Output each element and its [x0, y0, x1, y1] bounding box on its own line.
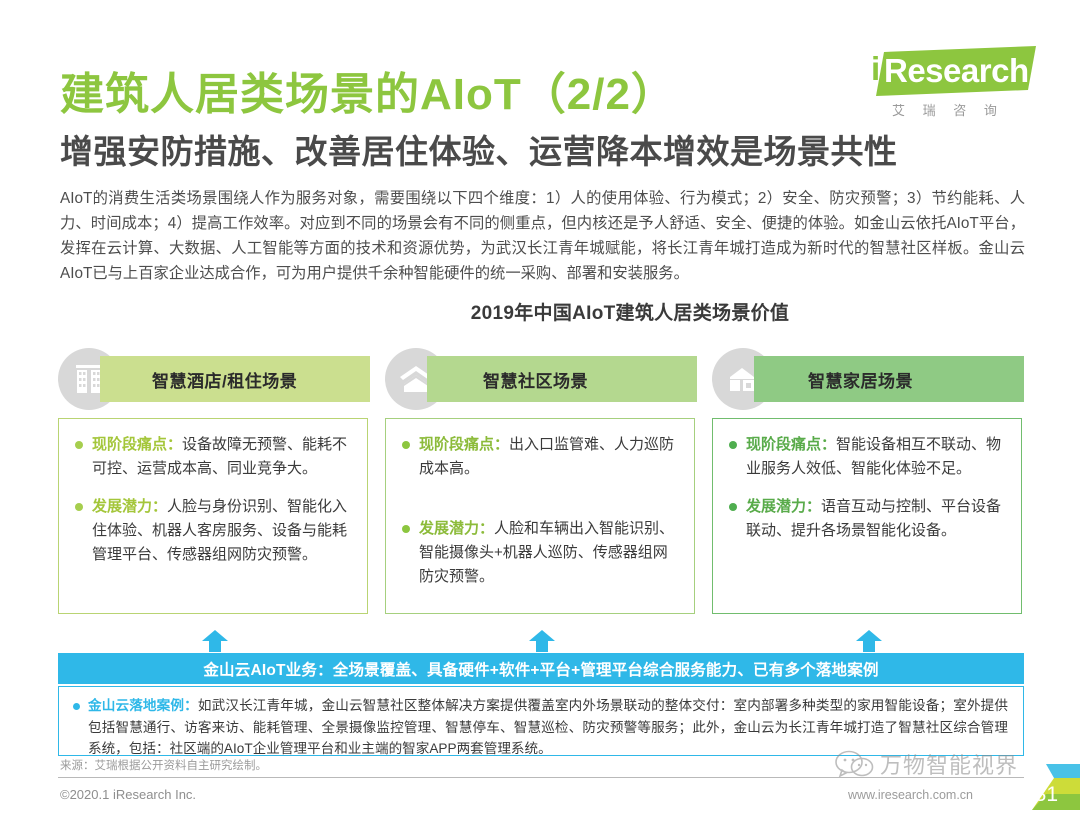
iresearch-logo: i Research 艾 瑞 咨 询	[868, 46, 1038, 122]
copyright-text: ©2020.1 iResearch Inc.	[60, 787, 196, 802]
bullet-text: 发展潜力：人脸和车辆出入智能识别、智能摄像头+机器人巡防、传感器组网防灾预警。	[419, 517, 681, 589]
page-title: 建筑人居类场景的AIoT（2/2）	[60, 58, 676, 122]
bullet-dot-icon	[729, 441, 737, 449]
wechat-watermark: 万物智能视界	[834, 748, 1018, 780]
column-header-band: 智慧家居场景	[754, 356, 1024, 402]
column-header-community: 智慧社区场景	[385, 348, 697, 410]
bullet-text: 现阶段痛点：设备故障无预警、能耗不可控、运营成本高、同业竞争大。	[92, 433, 354, 481]
bullet-text: 发展潜力：人脸与身份识别、智能化入住体验、机器人客房服务、设备与能耗管理平台、传…	[92, 495, 354, 567]
case-study-key: 金山云落地案例：	[88, 698, 198, 713]
bullet-key: 现阶段痛点：	[92, 436, 182, 453]
list-item: 发展潜力：人脸与身份识别、智能化入住体验、机器人客房服务、设备与能耗管理平台、传…	[67, 495, 357, 567]
footer-divider	[58, 777, 1024, 778]
summary-banner: 金山云AIoT业务：全场景覆盖、具备硬件+软件+平台+管理平台综合服务能力、已有…	[58, 653, 1024, 684]
list-item: 发展潜力：语音互动与控制、平台设备联动、提升各场景智能化设备。	[721, 495, 1011, 543]
column-header-label: 智慧酒店/租住场景	[100, 367, 297, 392]
bullet-key: 发展潜力：	[746, 498, 821, 515]
bullet-text: 现阶段痛点：出入口监管难、人力巡防成本高。	[419, 433, 681, 481]
case-study-box: 金山云落地案例：如武汉长江青年城，金山云智慧社区整体解决方案提供覆盖室内外场景联…	[58, 686, 1024, 756]
arrow-up-icon	[202, 630, 228, 652]
logo-mark: i Research	[868, 46, 1038, 98]
summary-banner-text: 金山云AIoT业务：全场景覆盖、具备硬件+软件+平台+管理平台综合服务能力、已有…	[203, 658, 878, 680]
column-header-label: 智慧社区场景	[427, 367, 588, 392]
logo-subtitle: 艾 瑞 咨 询	[892, 100, 1004, 119]
list-item: 现阶段痛点：设备故障无预警、能耗不可控、运营成本高、同业竞争大。	[67, 433, 357, 481]
bullet-key: 发展潜力：	[92, 498, 167, 515]
column-content-box: 现阶段痛点：出入口监管难、人力巡防成本高。 发展潜力：人脸和车辆出入智能识别、智…	[385, 418, 695, 614]
bullet-dot-icon	[402, 525, 410, 533]
scenario-columns: 智慧酒店/租住场景 现阶段痛点：设备故障无预警、能耗不可控、运营成本高、同业竞争…	[58, 348, 1024, 633]
chart-title-text: 2019年中国AIoT建筑人居类场景价值	[471, 303, 789, 324]
list-item: 发展潜力：人脸和车辆出入智能识别、智能摄像头+机器人巡防、传感器组网防灾预警。	[394, 517, 684, 589]
page-number: 31	[1035, 783, 1058, 807]
list-item: 现阶段痛点：出入口监管难、人力巡防成本高。	[394, 433, 684, 481]
bullet-dot-icon	[75, 441, 83, 449]
arrow-up-icon	[856, 630, 882, 652]
bullet-key: 现阶段痛点：	[746, 436, 836, 453]
chart-title: 2019年中国AIoT建筑人居类场景价值	[0, 298, 1080, 325]
bullet-text: 现阶段痛点：智能设备相互不联动、物业服务人效低、智能化体验不足。	[746, 433, 1008, 481]
column-header-smarthome: 智慧家居场景	[712, 348, 1024, 410]
bullet-dot-icon	[402, 441, 410, 449]
scenario-column-smarthome: 智慧家居场景 现阶段痛点：智能设备相互不联动、物业服务人效低、智能化体验不足。 …	[712, 348, 1024, 410]
bullet-key: 发展潜力：	[419, 520, 494, 537]
page-subtitle: 增强安防措施、改善居住体验、运营降本增效是场景共性	[60, 125, 898, 173]
scenario-column-hotel: 智慧酒店/租住场景 现阶段痛点：设备故障无预警、能耗不可控、运营成本高、同业竞争…	[58, 348, 370, 410]
logo-i-letter: i	[871, 50, 880, 88]
column-header-band: 智慧酒店/租住场景	[100, 356, 370, 402]
logo-wordmark: Research	[884, 52, 1029, 90]
column-content-box: 现阶段痛点：设备故障无预警、能耗不可控、运营成本高、同业竞争大。 发展潜力：人脸…	[58, 418, 368, 614]
bullet-text: 发展潜力：语音互动与控制、平台设备联动、提升各场景智能化设备。	[746, 495, 1008, 543]
wechat-icon	[834, 749, 874, 779]
column-header-band: 智慧社区场景	[427, 356, 697, 402]
column-header-hotel: 智慧酒店/租住场景	[58, 348, 370, 410]
bullet-dot-icon	[75, 503, 83, 511]
column-header-label: 智慧家居场景	[754, 367, 913, 392]
list-item: 现阶段痛点：智能设备相互不联动、物业服务人效低、智能化体验不足。	[721, 433, 1011, 481]
bullet-dot-icon	[729, 503, 737, 511]
arrow-up-icon	[529, 630, 555, 652]
bullet-dot-icon	[73, 703, 80, 710]
source-note: 来源：艾瑞根据公开资料自主研究绘制。	[60, 757, 267, 773]
slide-page: i Research 艾 瑞 咨 询 建筑人居类场景的AIoT（2/2） 增强安…	[0, 0, 1080, 810]
body-paragraph: AIoT的消费生活类场景围绕人作为服务对象，需要围绕以下四个维度：1）人的使用体…	[60, 186, 1025, 286]
column-content-box: 现阶段痛点：智能设备相互不联动、物业服务人效低、智能化体验不足。 发展潜力：语音…	[712, 418, 1022, 614]
scenario-column-community: 智慧社区场景 现阶段痛点：出入口监管难、人力巡防成本高。 发展潜力：人脸和车辆出…	[385, 348, 697, 410]
website-url: www.iresearch.com.cn	[848, 788, 973, 802]
bullet-key: 现阶段痛点：	[419, 436, 509, 453]
